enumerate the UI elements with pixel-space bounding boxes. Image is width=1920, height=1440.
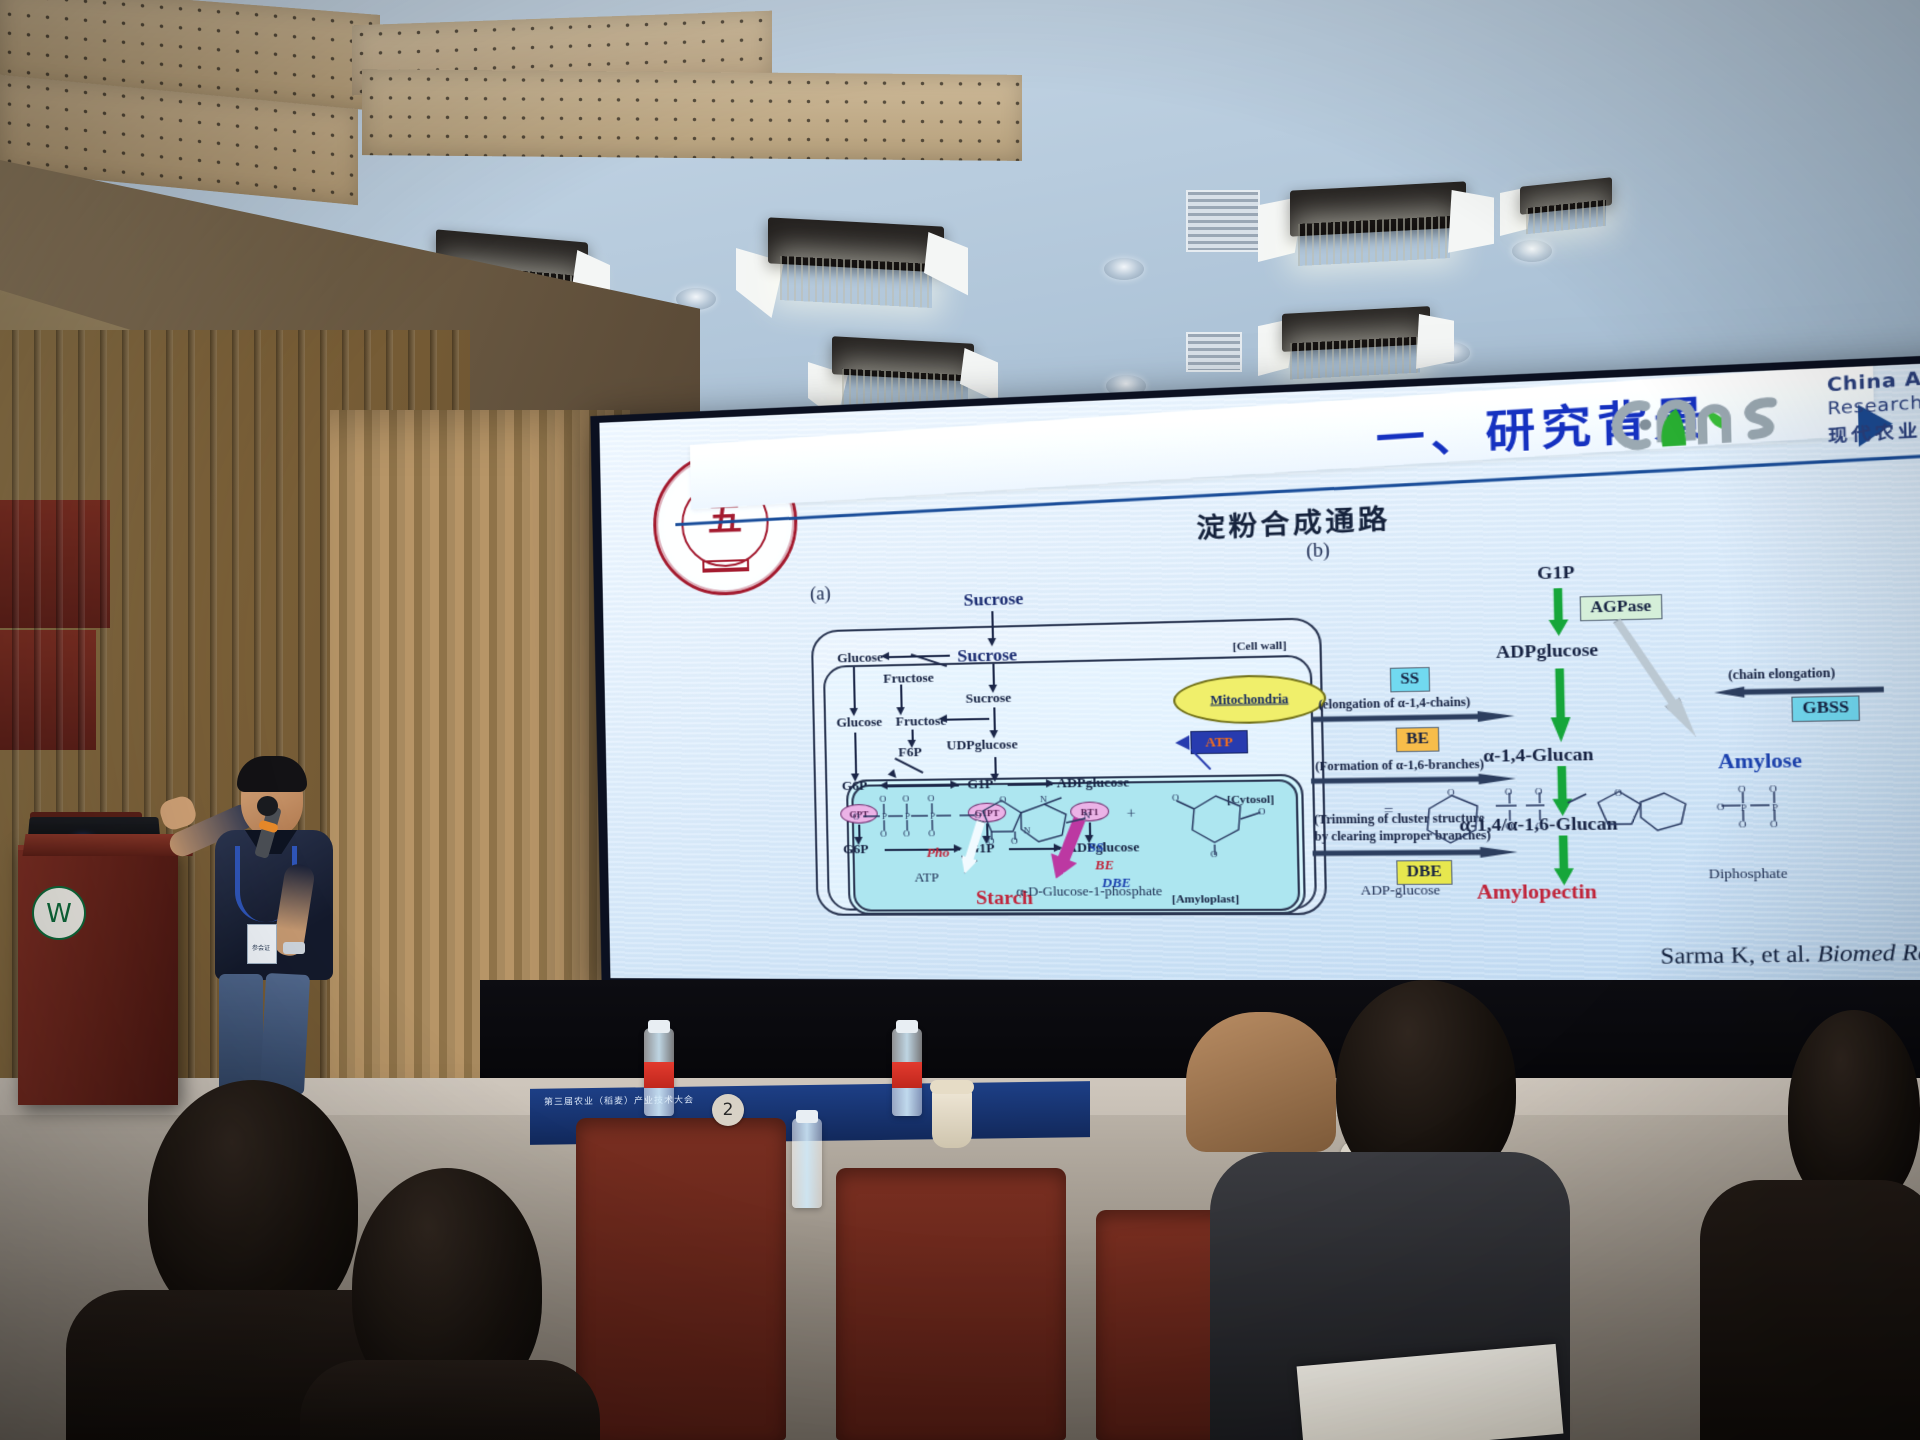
metabolite-sucrose-top: Sucrose bbox=[963, 589, 1023, 611]
presentation-slide: 五 一、研究背景 China Agriculture Research Syst… bbox=[599, 357, 1920, 984]
svg-text:O: O bbox=[1717, 801, 1726, 812]
speaker-name-badge: 参会证 bbox=[247, 924, 277, 964]
metabolite-glucose-wall: Glucose bbox=[837, 649, 883, 666]
svg-text:P: P bbox=[930, 810, 935, 820]
speaker-wristwatch bbox=[283, 942, 305, 954]
svg-text:N: N bbox=[1023, 825, 1031, 835]
green-arrow-ss bbox=[1550, 668, 1571, 742]
atp-box: ATP bbox=[1190, 730, 1248, 754]
flat-arrow-ss bbox=[1312, 711, 1515, 725]
enzyme-gbss: GBSS bbox=[1791, 695, 1860, 722]
citation-journal: Biomed Res Int. bbox=[1816, 938, 1920, 967]
ceiling-light-fixture bbox=[1268, 310, 1444, 384]
audience-arm-raised bbox=[1186, 1012, 1336, 1152]
chem-label-glucose1p: α-D-Glucose-1-phosphate bbox=[1016, 883, 1162, 900]
projection-screen: 五 一、研究背景 China Agriculture Research Syst… bbox=[590, 349, 1920, 993]
metabolite-f6p: F6P bbox=[898, 744, 922, 761]
podium-emblem-icon: W bbox=[32, 886, 86, 940]
conference-photo: 五 一、研究背景 China Agriculture Research Syst… bbox=[0, 0, 1920, 1440]
node-adpglucose-b: ADPglucose bbox=[1496, 639, 1599, 663]
ac-grille-icon bbox=[1186, 190, 1260, 252]
svg-text:O: O bbox=[1258, 806, 1266, 817]
svg-text:O: O bbox=[853, 811, 860, 821]
cars-wordmark-icon bbox=[1593, 379, 1829, 462]
svg-text:O: O bbox=[1210, 849, 1218, 860]
chem-operator-equals: = bbox=[1384, 803, 1394, 820]
svg-text:P: P bbox=[905, 811, 910, 821]
enzyme-ss-b: SS bbox=[1390, 667, 1430, 692]
chemical-structure-diagram: OOO OOO OO PPP OOO NNN OOO OOO OOO OOO O… bbox=[842, 778, 1807, 861]
downlight-icon bbox=[1104, 258, 1144, 280]
node-g1p-b: G1P bbox=[1537, 562, 1575, 585]
ceiling-light-fixture bbox=[1510, 182, 1620, 242]
node-amylose: Amylose bbox=[1718, 750, 1802, 775]
bottle-label bbox=[892, 1062, 922, 1088]
bottle-cap bbox=[648, 1020, 670, 1033]
speaker-hair bbox=[237, 756, 307, 792]
annotation-be: (Formation of α-1,6-branches) bbox=[1315, 758, 1484, 773]
node-alpha14-glucan: α-1,4-Glucan bbox=[1483, 744, 1594, 767]
enzyme-agpase: AGPase bbox=[1580, 594, 1663, 621]
svg-text:P: P bbox=[1741, 802, 1747, 813]
svg-text:P: P bbox=[1772, 802, 1778, 813]
svg-text:O: O bbox=[1535, 786, 1543, 797]
svg-text:O: O bbox=[928, 828, 936, 838]
svg-text:O: O bbox=[999, 794, 1007, 804]
chem-operator-plus: + bbox=[1126, 805, 1136, 822]
svg-text:O: O bbox=[879, 794, 887, 804]
svg-text:O: O bbox=[1535, 820, 1543, 831]
svg-text:O: O bbox=[927, 793, 935, 803]
speaker-presenter: 参会证 bbox=[175, 760, 350, 1100]
svg-text:O: O bbox=[987, 836, 995, 846]
svg-text:O: O bbox=[974, 810, 982, 820]
downlight-icon bbox=[1512, 240, 1552, 262]
metabolite-fructose-wall: Fructose bbox=[883, 669, 934, 687]
chem-label-atp: ATP bbox=[914, 869, 939, 886]
svg-text:O: O bbox=[1769, 783, 1778, 794]
tea-cup bbox=[932, 1088, 972, 1148]
panel-a-label: (a) bbox=[810, 583, 831, 605]
svg-text:O: O bbox=[1738, 783, 1747, 794]
panel-b-label: (b) bbox=[1306, 539, 1330, 562]
speaker-leg-right bbox=[260, 973, 310, 1095]
water-bottle bbox=[792, 1118, 822, 1208]
svg-text:N: N bbox=[1040, 794, 1048, 805]
svg-text:O: O bbox=[1505, 821, 1513, 832]
svg-text:O: O bbox=[1770, 818, 1779, 829]
audience-chair bbox=[576, 1118, 786, 1440]
podium: W bbox=[18, 845, 178, 1105]
audience-chair bbox=[836, 1168, 1066, 1440]
compartment-amyloplast: [Amyloplast] bbox=[1172, 893, 1239, 906]
chem-label-diphosphate: Diphosphate bbox=[1708, 865, 1787, 883]
ceiling-light-fixture bbox=[1272, 186, 1478, 270]
tea-cup-lid bbox=[930, 1080, 974, 1094]
annotation-chain-elong: (chain elongation) bbox=[1728, 667, 1835, 682]
mitochondria-label: Mitochondria bbox=[1210, 691, 1289, 708]
svg-text:O: O bbox=[903, 828, 911, 838]
svg-text:O: O bbox=[1447, 787, 1455, 798]
compartment-cellwall: [Cell wall] bbox=[1232, 639, 1286, 653]
chem-label-adpglucose: ADP-glucose bbox=[1360, 882, 1440, 899]
atp-label: ATP bbox=[1205, 734, 1233, 751]
chemical-structures-row: OOO OOO OO PPP OOO NNN OOO OOO OOO OOO O… bbox=[842, 778, 1807, 882]
acoustic-panel bbox=[362, 69, 1022, 161]
citation-authors: Sarma K, et al. bbox=[1660, 940, 1817, 969]
svg-text:O: O bbox=[1614, 787, 1623, 798]
microphone-head-icon bbox=[257, 796, 278, 816]
ceiling-light-fixture bbox=[748, 222, 956, 308]
svg-text:O: O bbox=[1505, 786, 1513, 797]
metabolite-sucrose-cyto: Sucrose bbox=[965, 689, 1011, 706]
metabolite-sucrose-wall: Sucrose bbox=[957, 645, 1017, 667]
grey-arrow-gbss bbox=[1609, 616, 1703, 741]
chair-number-badge: 2 bbox=[712, 1094, 744, 1126]
audience-shoulders bbox=[300, 1360, 600, 1440]
svg-text:O: O bbox=[902, 793, 910, 803]
svg-text:P: P bbox=[882, 811, 887, 821]
node-amylopectin: Amylopectin bbox=[1477, 881, 1598, 905]
metabolite-glucose-cyto: Glucose bbox=[836, 714, 882, 731]
ac-grille-icon bbox=[1186, 332, 1242, 372]
slide-citation: Sarma K, et al. Biomed Res Int. 2014 bbox=[1660, 937, 1920, 970]
svg-text:O: O bbox=[1172, 792, 1180, 803]
svg-text:O: O bbox=[1011, 836, 1019, 846]
metabolite-udpglucose: UDPglucose bbox=[946, 736, 1018, 754]
annotation-ss: (elongation of α-1,4-chains) bbox=[1318, 696, 1470, 712]
svg-text:O: O bbox=[880, 828, 888, 838]
svg-text:N: N bbox=[1083, 810, 1091, 821]
bottle-label bbox=[644, 1062, 674, 1088]
green-arrow-agpase bbox=[1548, 588, 1569, 636]
cars-line-1: China Agriculture bbox=[1827, 359, 1920, 397]
svg-text:O: O bbox=[1739, 819, 1748, 830]
bottle-cap bbox=[796, 1110, 818, 1123]
bottle-cap bbox=[896, 1020, 918, 1033]
audience-shoulders bbox=[1700, 1180, 1920, 1440]
enzyme-be-b: BE bbox=[1396, 727, 1440, 752]
